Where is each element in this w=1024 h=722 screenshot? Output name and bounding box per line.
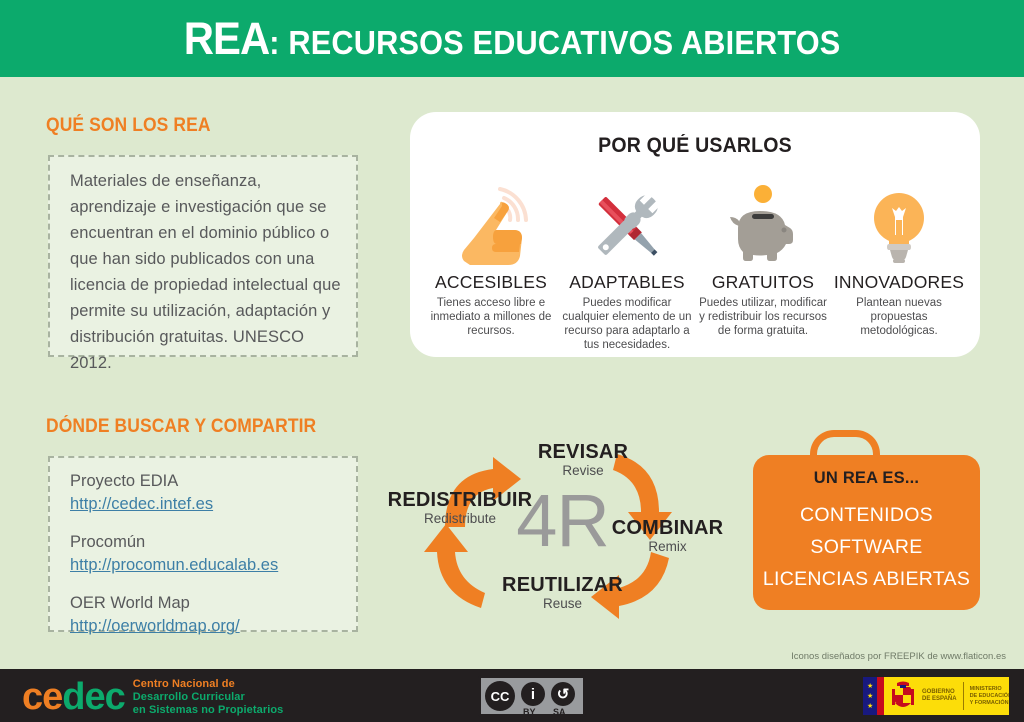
logo-divider — [963, 682, 964, 710]
benefit-title: GRATUITOS — [712, 272, 814, 293]
benefit-title: INNOVADORES — [834, 272, 964, 293]
what-a-rea-is-panel: UN REA ES... CONTENIDOS SOFTWARE LICENCI… — [753, 455, 980, 610]
gob-line2: DE ESPAÑA — [922, 696, 957, 703]
page-title-rea: REA — [184, 13, 270, 64]
ministry-line1: MINISTERIO — [970, 686, 1009, 693]
four-r-cycle-diagram: 4R REVISAR Revise COMBINAR Remix REUTILI… — [385, 432, 740, 628]
what-are-rea-text: Materiales de enseñanza, aprendizaje e i… — [70, 168, 350, 376]
cycle-step-label-es: REUTILIZAR — [480, 574, 645, 597]
benefit-adaptables: ADAPTABLES Puedes modificar cualquier el… — [560, 174, 694, 352]
cedec-wordmark-dec: dec — [62, 676, 124, 718]
government-of-spain-logo: ★ ★ ★ GOBIERNO DE ESPAÑA MINISTERIO DE E… — [863, 677, 1009, 715]
bag-title: UN REA ES... — [753, 469, 980, 488]
screwdriver-wrench-icon — [584, 174, 670, 266]
list-item: Proyecto EDIA http://cedec.intef.es — [70, 470, 360, 516]
resource-name: OER World Map — [70, 592, 360, 615]
cycle-step-revisar: REVISAR Revise — [503, 441, 663, 478]
cycle-step-label-es: COMBINAR — [585, 517, 750, 540]
resource-name: Procomún — [70, 531, 360, 554]
list-item: CONTENIDOS — [753, 499, 980, 531]
piggy-bank-icon — [720, 174, 806, 266]
eu-flag-stripe-icon: ★ ★ ★ — [863, 677, 877, 715]
benefit-desc: Plantean nuevas propuestas metodológicas… — [832, 296, 966, 338]
resource-url-link[interactable]: http://oerworldmap.org/ — [70, 615, 360, 638]
bag-item-list: CONTENIDOS SOFTWARE LICENCIAS ABIERTAS — [753, 499, 980, 595]
cedec-tagline-line1: Centro Nacional de — [133, 678, 284, 691]
resource-name: Proyecto EDIA — [70, 470, 360, 493]
benefit-accesibles: ACCESIBLES Tienes acceso libre e inmedia… — [424, 174, 558, 338]
cedec-tagline-line2: Desarrollo Curricular — [133, 691, 284, 704]
spain-red-stripe — [877, 677, 884, 715]
gob-line1: GOBIERNO — [922, 689, 957, 696]
cc-sa-label: SA — [553, 707, 566, 717]
list-item: Procomún http://procomun.educalab.es — [70, 531, 360, 577]
spain-coat-of-arms-icon — [888, 678, 918, 714]
icon-credit-text: Iconos diseñados por FREEPIK de www.flat… — [791, 651, 1006, 662]
page-title-rest: : RECURSOS EDUCATIVOS ABIERTOS — [269, 24, 840, 61]
resource-link-list: Proyecto EDIA http://cedec.intef.es Proc… — [70, 470, 360, 653]
resource-url-link[interactable]: http://procomun.educalab.es — [70, 554, 360, 577]
why-use-title: POR QUÉ USARLOS — [430, 134, 960, 158]
cedec-wordmark: cedec — [22, 678, 125, 716]
cycle-step-combinar: COMBINAR Remix — [585, 517, 750, 554]
cc-by-label: BY — [523, 707, 536, 717]
cycle-step-label-en: Remix — [585, 539, 750, 554]
cycle-step-label-en: Revise — [503, 463, 663, 478]
cycle-step-label-en: Reuse — [480, 596, 645, 611]
pointing-hand-touch-icon — [448, 174, 534, 266]
cycle-step-label-es: REVISAR — [503, 441, 663, 464]
section-heading-where-to-search: DÓNDE BUSCAR Y COMPARTIR — [46, 416, 316, 438]
ministry-line3: Y FORMACIÓN PROFESIONAL — [970, 700, 1009, 707]
benefit-title: ADAPTABLES — [569, 272, 684, 293]
ministry-line2: DE EDUCACIÓN — [970, 693, 1009, 700]
cedec-wordmark-ce: ce — [22, 676, 62, 718]
resource-url-link[interactable]: http://cedec.intef.es — [70, 493, 360, 516]
benefit-gratuitos: GRATUITOS Puedes utilizar, modificar y r… — [696, 174, 830, 338]
cycle-step-label-en: Redistribute — [380, 511, 540, 526]
gob-espana-text: GOBIERNO DE ESPAÑA — [922, 689, 957, 703]
why-use-card: POR QUÉ USARLOS ACCESIBLES Tienes acceso… — [410, 112, 980, 357]
ministry-text: MINISTERIO DE EDUCACIÓN Y FORMACIÓN PROF… — [970, 686, 1009, 707]
section-heading-what-are-rea: QUÉ SON LOS REA — [46, 115, 211, 137]
cycle-step-redistribuir: REDISTRIBUIR Redistribute — [380, 489, 540, 526]
page-header: REA: RECURSOS EDUCATIVOS ABIERTOS — [0, 0, 1024, 77]
benefits-row: ACCESIBLES Tienes acceso libre e inmedia… — [424, 174, 966, 349]
page-title: REA: RECURSOS EDUCATIVOS ABIERTOS — [184, 13, 841, 65]
benefit-title: ACCESIBLES — [435, 272, 547, 293]
benefit-desc: Puedes modificar cualquier elemento de u… — [560, 296, 694, 352]
cedec-tagline-line3: en Sistemas no Propietarios — [133, 704, 284, 717]
creative-commons-license-badge[interactable]: CC i ↺ BY SA — [478, 675, 586, 717]
list-item: SOFTWARE — [753, 531, 980, 563]
cc-by-icon: i — [521, 682, 545, 706]
lightbulb-icon — [856, 174, 942, 266]
cedec-tagline: Centro Nacional de Desarrollo Curricular… — [133, 678, 284, 717]
cedec-logo: cedec Centro Nacional de Desarrollo Curr… — [22, 676, 283, 717]
list-item: LICENCIAS ABIERTAS — [753, 563, 980, 595]
list-item: OER World Map http://oerworldmap.org/ — [70, 592, 360, 638]
cycle-step-reutilizar: REUTILIZAR Reuse — [480, 574, 645, 611]
cc-sa-icon: ↺ — [551, 682, 575, 706]
benefit-innovadores: INNOVADORES Plantean nuevas propuestas m… — [832, 174, 966, 338]
cycle-step-label-es: REDISTRIBUIR — [380, 489, 540, 512]
benefit-desc: Tienes acceso libre e inmediato a millon… — [424, 296, 558, 338]
benefit-desc: Puedes utilizar, modificar y redistribui… — [696, 296, 830, 338]
cc-icon: CC — [485, 681, 515, 711]
